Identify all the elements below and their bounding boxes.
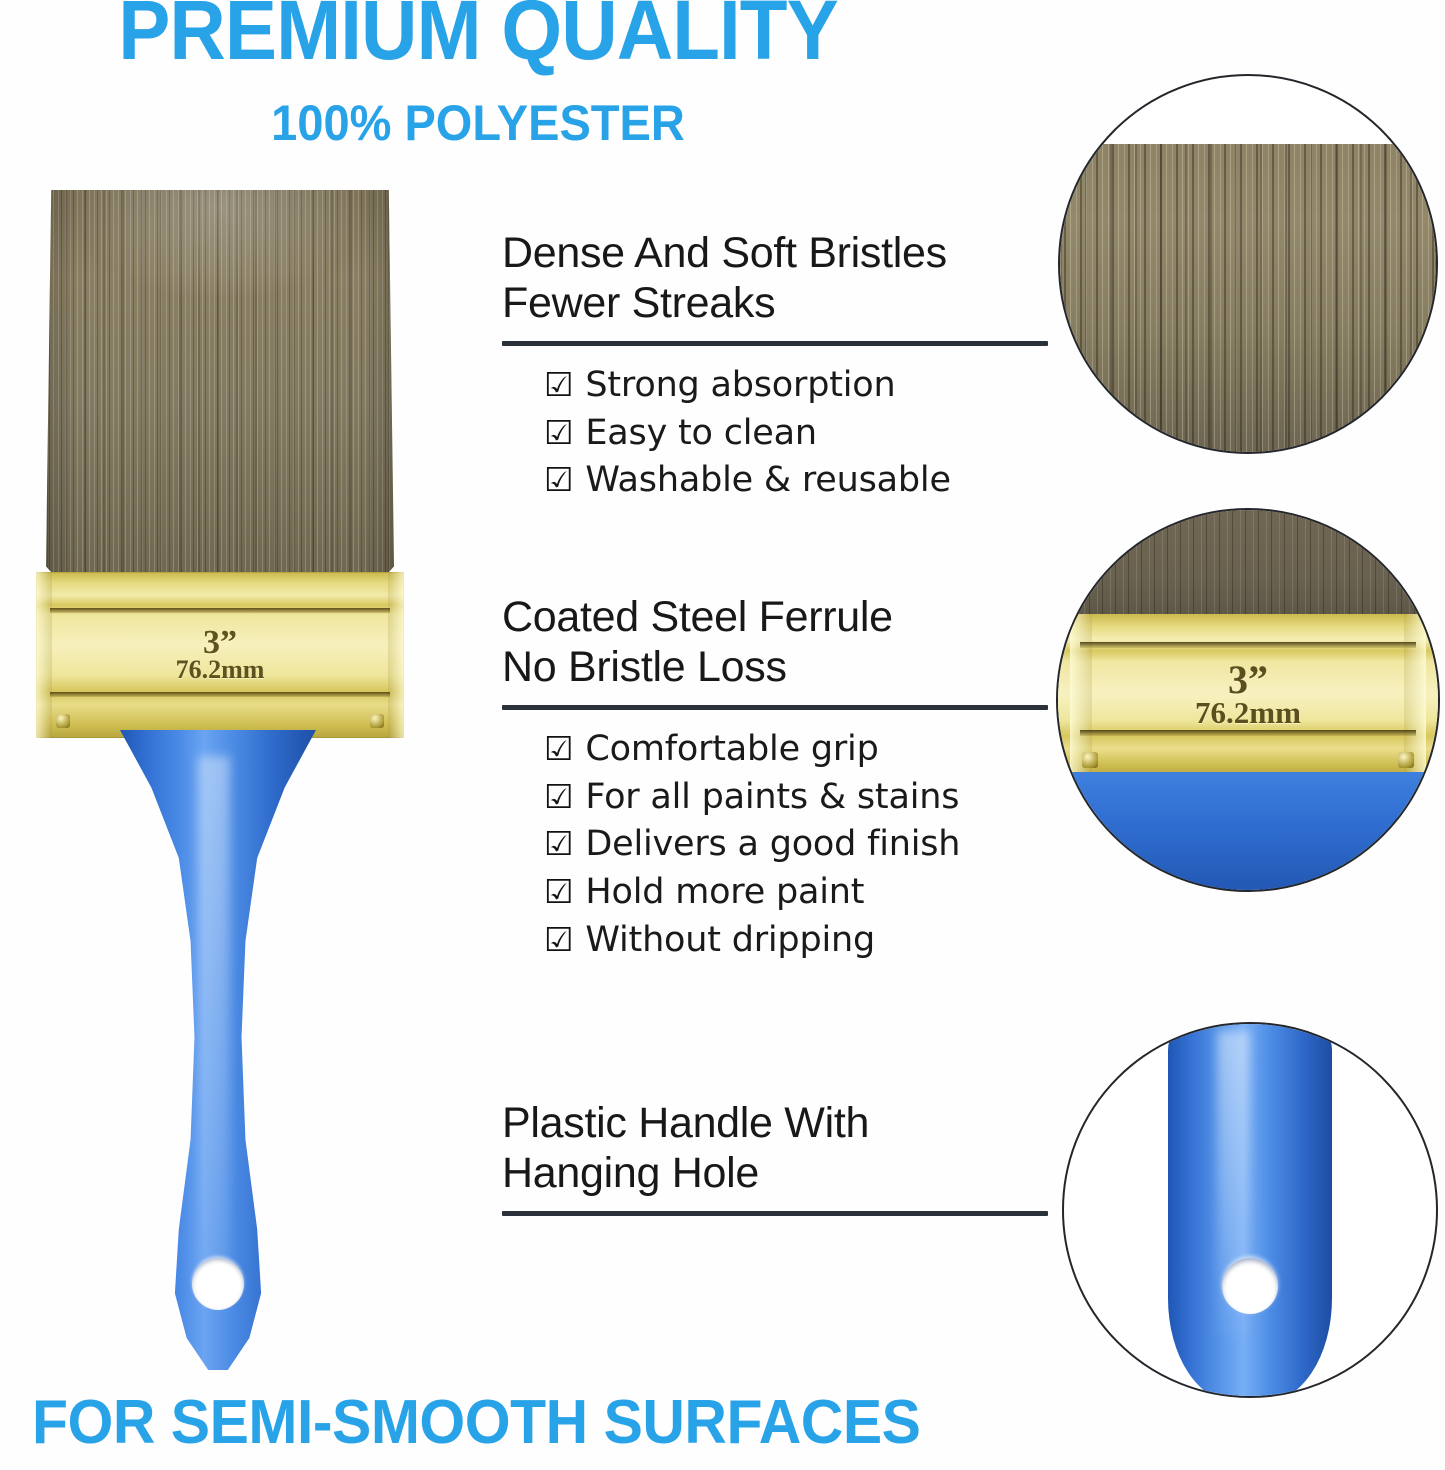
ferrule-closeup-bristles	[1058, 510, 1438, 620]
ferrule-closeup-rivet-right	[1398, 752, 1414, 768]
list-item: ☑ Easy to clean	[544, 410, 1062, 458]
bullet-label: For all paints & stains	[585, 774, 959, 822]
detail-inset-handle-hole	[1062, 1022, 1438, 1398]
main-product-image: 3” 76.2mm	[36, 190, 404, 1375]
ferrule-size-mm: 76.2mm	[1058, 697, 1438, 729]
ferrule-groove-bottom	[50, 692, 390, 697]
checkbox-icon: ☑	[544, 416, 573, 449]
checkbox-icon: ☑	[544, 875, 573, 908]
subheadline-material: 100% POLYESTER	[74, 98, 882, 148]
feature-divider	[502, 1211, 1048, 1216]
ferrule-closeup-size-stamp: 3” 76.2mm	[1058, 660, 1438, 728]
bullet-label: Washable & reusable	[585, 457, 950, 505]
ferrule-size-inches: 3”	[36, 626, 404, 661]
infographic-canvas: PREMIUM QUALITY 100% POLYESTER 3” 76.2mm…	[0, 0, 1445, 1470]
feature-title: Dense And Soft Bristles Fewer Streaks	[502, 228, 1062, 329]
list-item: ☑ Washable & reusable	[544, 457, 1062, 505]
brush-bristles	[46, 190, 394, 578]
bullet-label: Strong absorption	[585, 362, 895, 410]
feature-block-bristles: Dense And Soft Bristles Fewer Streaks ☑ …	[502, 228, 1062, 505]
checkbox-icon: ☑	[544, 463, 573, 496]
handle-hanging-hole	[192, 1258, 244, 1310]
headline-premium-quality: PREMIUM QUALITY	[78, 0, 878, 71]
feature-divider	[502, 705, 1048, 710]
ferrule-closeup-handle	[1058, 772, 1438, 890]
checkbox-icon: ☑	[544, 780, 573, 813]
bullet-label: Comfortable grip	[585, 726, 878, 774]
bullet-label: Without dripping	[585, 917, 875, 965]
list-item: ☑ Without dripping	[544, 917, 1062, 965]
handle-closeup-hanging-hole	[1222, 1258, 1278, 1314]
bullet-label: Delivers a good finish	[585, 821, 960, 869]
bristle-tip-closeup	[1060, 144, 1436, 452]
ferrule-rivet-right	[370, 714, 384, 728]
feature-bullet-list: ☑ Strong absorption ☑ Easy to clean ☑ Wa…	[502, 362, 1062, 506]
ferrule-closeup-groove-top	[1080, 642, 1416, 648]
feature-title: Coated Steel Ferrule No Bristle Loss	[502, 592, 1062, 693]
ferrule-rivet-left	[56, 714, 70, 728]
footer-banner-surfaces: FOR SEMI-SMOOTH SURFACES	[32, 1392, 868, 1454]
detail-inset-bristle-tip	[1058, 74, 1438, 454]
bullet-label: Hold more paint	[585, 869, 864, 917]
checkbox-icon: ☑	[544, 732, 573, 765]
list-item: ☑ Strong absorption	[544, 362, 1062, 410]
bullet-label: Easy to clean	[585, 410, 816, 458]
list-item: ☑ Hold more paint	[544, 869, 1062, 917]
handle-highlight	[198, 756, 229, 1306]
feature-divider	[502, 341, 1048, 346]
checkbox-icon: ☑	[544, 827, 573, 860]
list-item: ☑ Delivers a good finish	[544, 821, 1062, 869]
ferrule-closeup-groove-bottom	[1080, 730, 1416, 736]
list-item: ☑ For all paints & stains	[544, 774, 1062, 822]
brush-handle	[120, 730, 316, 1370]
feature-block-ferrule: Coated Steel Ferrule No Bristle Loss ☑ C…	[502, 592, 1062, 965]
handle-closeup-body	[1168, 1022, 1332, 1398]
ferrule-size-mm: 76.2mm	[36, 657, 404, 684]
feature-bullet-list: ☑ Comfortable grip ☑ For all paints & st…	[502, 726, 1062, 966]
brush-ferrule: 3” 76.2mm	[36, 572, 404, 738]
checkbox-icon: ☑	[544, 368, 573, 401]
ferrule-closeup-rivet-left	[1082, 752, 1098, 768]
detail-inset-ferrule: 3” 76.2mm	[1056, 508, 1440, 892]
checkbox-icon: ☑	[544, 923, 573, 956]
ferrule-edge-left	[36, 572, 52, 738]
ferrule-size-stamp: 3” 76.2mm	[36, 626, 404, 683]
list-item: ☑ Comfortable grip	[544, 726, 1062, 774]
ferrule-groove-top	[50, 608, 390, 613]
ferrule-edge-right	[388, 572, 404, 738]
feature-title: Plastic Handle With Hanging Hole	[502, 1098, 1062, 1199]
feature-block-handle: Plastic Handle With Hanging Hole	[502, 1098, 1062, 1216]
